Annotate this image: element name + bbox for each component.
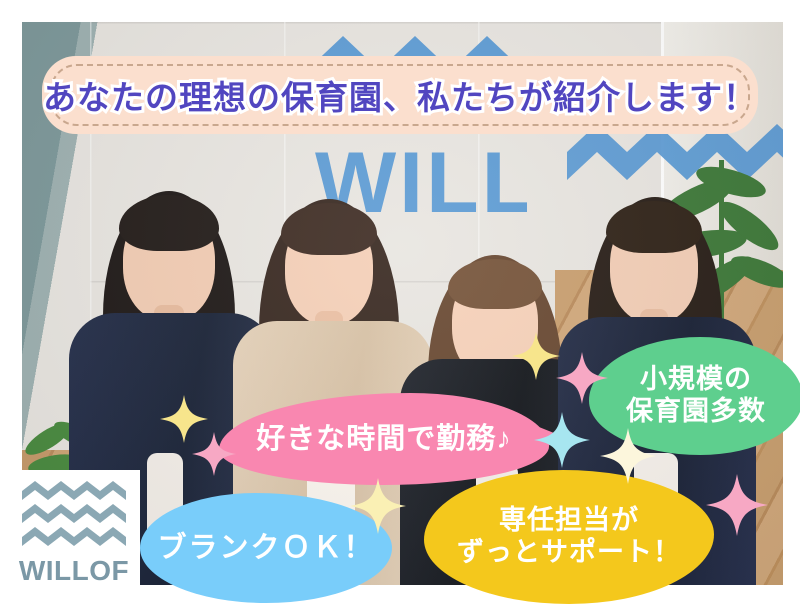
- sparkle-yellow-2: [512, 332, 560, 380]
- sparkle-cream-1: [350, 478, 406, 534]
- bubble-line: 専任担当が: [499, 505, 639, 537]
- bangs: [281, 203, 377, 255]
- bubble-dedicated-support: 専任担当が ずっとサポート！: [424, 470, 714, 604]
- sparkle-pink-3: [706, 474, 768, 536]
- bangs: [448, 259, 542, 309]
- sparkle-white-1: [600, 428, 656, 484]
- willof-wordmark: WILLOF: [19, 557, 129, 585]
- bangs: [606, 201, 702, 253]
- headline-banner: あなたの理想の保育園、私たちが紹介します！: [42, 56, 758, 134]
- bubble-line: 保育園多数: [626, 396, 766, 428]
- sparkle-pink-1: [192, 432, 236, 476]
- willof-logo: WILLOF: [8, 470, 140, 595]
- poster-canvas: WILL: [0, 0, 800, 600]
- bangs: [119, 195, 219, 251]
- sparkle-blue-1: [534, 412, 590, 468]
- bubble-line: 小規模の: [640, 364, 752, 396]
- bubble-line: ブランクＯＫ！: [157, 531, 374, 565]
- willof-wave-mark-icon: [22, 481, 126, 553]
- headline-text: あなたの理想の保育園、私たちが紹介します！: [43, 71, 757, 119]
- sparkle-pink-2: [556, 352, 608, 404]
- bubble-line: 好きな時間で勤務♪: [256, 422, 512, 456]
- bubble-line: ずっとサポート！: [457, 537, 681, 569]
